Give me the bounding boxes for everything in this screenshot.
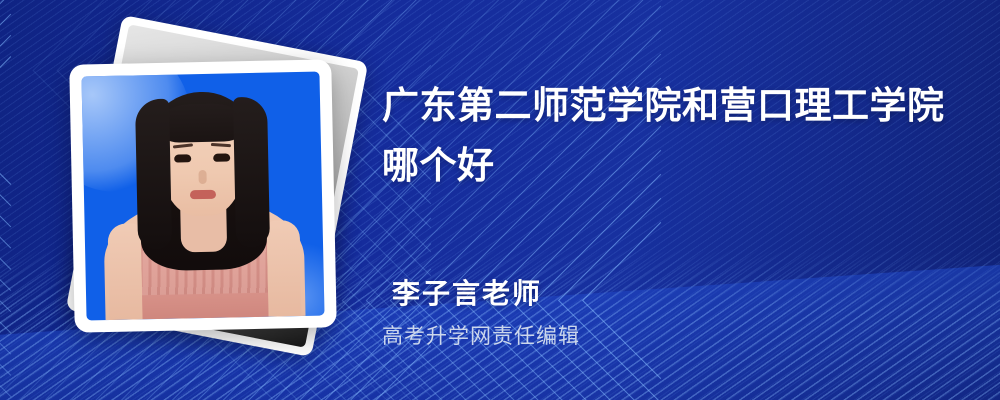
portrait-arm-left bbox=[108, 223, 144, 320]
portrait-dress-waistband bbox=[142, 293, 268, 320]
banner-title: 广东第二师范学院和营口理工学院哪个好 bbox=[382, 76, 954, 196]
author-role: 高考升学网责任编辑 bbox=[382, 320, 580, 350]
portrait-eye-left bbox=[174, 154, 191, 162]
author-photo-stack bbox=[52, 40, 352, 360]
portrait-figure bbox=[81, 72, 324, 321]
portrait-nose bbox=[198, 170, 206, 184]
banner-text-content: 广东第二师范学院和营口理工学院哪个好 李子言老师 高考升学网责任编辑 bbox=[382, 0, 982, 400]
portrait-hair-front-right bbox=[233, 97, 270, 248]
photo-card-front bbox=[69, 59, 337, 332]
article-header-banner: 广东第二师范学院和营口理工学院哪个好 李子言老师 高考升学网责任编辑 bbox=[0, 0, 1000, 400]
author-name: 李子言老师 bbox=[392, 272, 542, 312]
portrait-hair-front-left bbox=[135, 99, 172, 250]
portrait-arm-right bbox=[266, 220, 302, 317]
portrait-lips bbox=[190, 190, 216, 200]
author-portrait-photo bbox=[81, 72, 324, 321]
portrait-eye-right bbox=[213, 153, 230, 161]
